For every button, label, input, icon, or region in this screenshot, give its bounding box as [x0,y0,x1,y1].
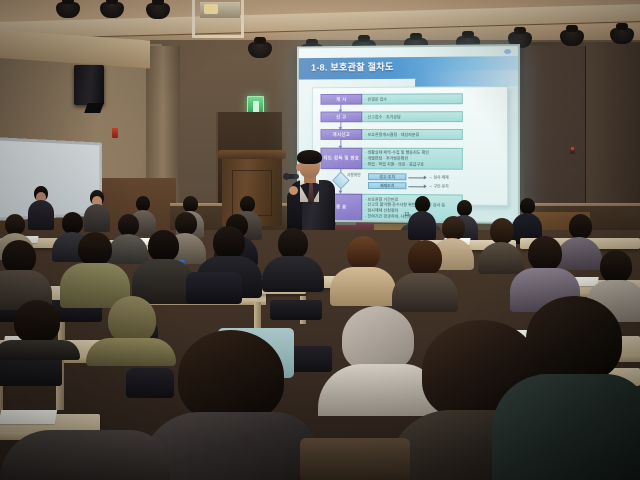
audience-member [132,230,194,304]
flowchart-label-1: 개 시 [320,94,362,105]
flowchart-label-2: 신 고 [320,111,362,122]
handbag [300,438,410,480]
audience-head [78,232,112,266]
audience-member [0,300,80,360]
audience-head [408,240,442,276]
stage-spotlight-icon [560,30,584,46]
branch-option-top: 경고·조치 [368,173,406,180]
stage-spotlight-icon [56,2,80,18]
branch-arrow-icon [408,177,425,178]
flowchart-body-3: · 보호관찰개시결정 · 대상자분류 [362,129,463,140]
audience-torso [492,374,640,480]
audience-torso [262,256,324,292]
audience-member [0,424,170,480]
audience-head [278,228,308,259]
presenter-ear [296,164,301,171]
projector-lamp-glow-icon [204,4,218,14]
audience-member [330,236,396,306]
audience-torso [0,340,80,360]
audience-head [148,230,179,262]
flowchart-label-3: 개시신고 [320,129,362,140]
audience-head [62,212,83,234]
handbag [186,272,242,304]
audience-head [528,236,562,271]
fire-alarm-icon [112,128,118,138]
branch-option-bottom: 제재조치 [368,182,406,189]
audience-torso [0,430,170,480]
handbag [126,368,174,398]
presenter-hand [289,186,298,195]
status-led-icon [570,146,575,154]
stage-spotlight-icon [100,2,124,18]
flowchart-body-2: · 신고접수 · 초기상담 [362,111,463,122]
audience-head [240,196,255,212]
audience-member [262,228,324,292]
stage-spotlight-icon [146,3,170,19]
branch-condition-label: 사항위반 [347,172,361,178]
flow-arrow-icon [340,140,341,148]
slide-decor-dot-icon [504,49,511,54]
audience-head [526,296,622,382]
loudspeaker-icon [74,65,104,105]
flowchart-body-4: · 생활실태 파악·수집 및 행동지도 확인 · 개별면담 · 주거방문확인 ·… [362,148,463,170]
chair-back [270,300,322,320]
audience-member [392,240,458,312]
audience-head [415,196,430,212]
microphone-icon [287,174,299,179]
chair-back [0,358,62,386]
stage-spotlight-icon [248,42,272,58]
audience-head [136,196,150,211]
audience-head [14,300,60,344]
audience-head [520,198,535,214]
slide-title: 1-8. 보호관찰 절차도 [311,59,394,73]
branch-arrow-icon [408,186,425,187]
branch-result-top: → 심사·제재 [429,175,449,181]
audience-head [178,330,284,422]
flow-arrow-icon [340,105,341,112]
stage-spotlight-icon [610,28,634,44]
audience-head [457,200,472,216]
audience-head [347,236,380,270]
audience-head [600,250,632,283]
audience-head [213,226,245,259]
flowchart-body-1: · 판결문 접수 [362,93,463,104]
presenter-hair [297,150,322,164]
audience-head [2,240,36,274]
flow-arrow-icon [340,122,341,129]
audience-head [183,196,198,212]
audience-member [500,296,640,480]
branch-result-bottom: → 구인·유치 [429,183,449,189]
document-paper [0,410,57,424]
audience-head [442,216,465,240]
audience-torso [330,267,396,306]
podium-top [218,150,286,159]
audience-head [5,214,25,235]
lecture-hall-photo: 1-8. 보호관찰 절차도 개 시 · 판결문 접수 신 고 · 신고접수 · … [0,0,640,480]
